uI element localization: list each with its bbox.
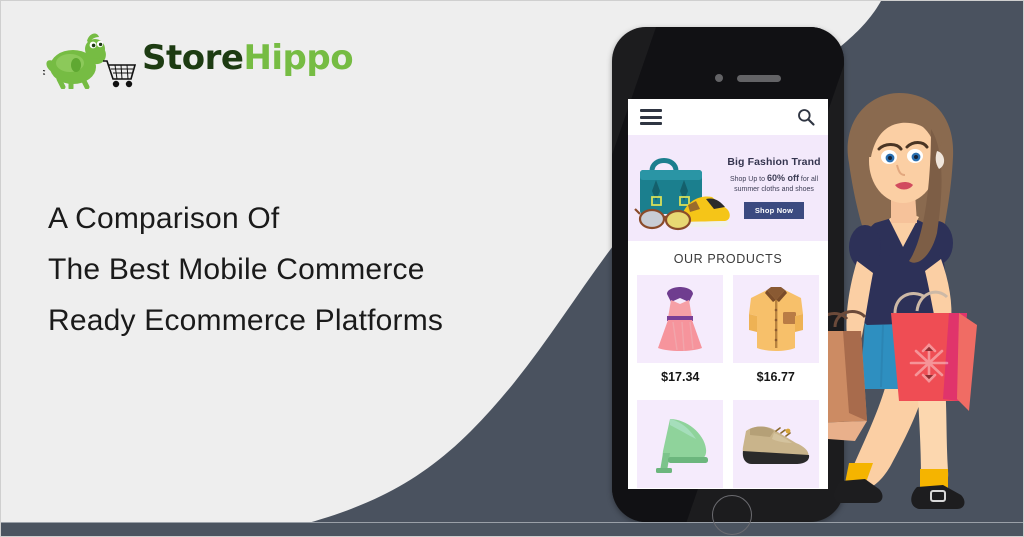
banner-title: Big Fashion Trand xyxy=(727,156,821,168)
product-thumb xyxy=(733,275,819,363)
banner-sub-post: for all xyxy=(799,176,818,183)
hippo-with-shopping-cart-icon xyxy=(43,27,138,89)
product-card-dress[interactable]: $17.34 xyxy=(636,275,725,393)
product-price: $17.34 xyxy=(661,363,699,393)
headline-line-3: Ready Ecommerce Platforms xyxy=(48,295,443,346)
yellow-shirt-icon xyxy=(743,284,809,354)
app-topbar xyxy=(628,99,828,135)
banner-discount: 60% off xyxy=(767,173,799,183)
headline-line-2: The Best Mobile Commerce xyxy=(48,244,443,295)
product-thumb xyxy=(637,400,723,488)
phone-screen: Big Fashion Trand Shop Up to 60% off for… xyxy=(628,99,828,489)
banner-sub-line2: summer cloths and shoes xyxy=(734,186,814,193)
hero-banner[interactable]: Big Fashion Trand Shop Up to 60% off for… xyxy=(628,135,828,241)
banner-subtitle: Shop Up to 60% off for all summer cloths… xyxy=(727,173,821,195)
logo-word-hippo: Hippo xyxy=(243,38,353,78)
floor-strip xyxy=(1,522,1024,536)
product-price: $16.77 xyxy=(757,363,795,393)
pink-dress-icon xyxy=(649,284,711,354)
banner-sub-pre: Shop Up to xyxy=(730,176,767,183)
product-card-shirt[interactable]: $16.77 xyxy=(732,275,821,393)
banner-copy: Big Fashion Trand Shop Up to 60% off for… xyxy=(727,156,821,219)
front-camera-icon xyxy=(715,74,723,82)
logo-wordmark: StoreHippo xyxy=(142,41,353,75)
smartphone-mockup: Big Fashion Trand Shop Up to 60% off for… xyxy=(612,27,844,522)
earpiece-speaker-icon xyxy=(737,75,781,82)
page-title: A Comparison Of The Best Mobile Commerce… xyxy=(48,193,443,346)
product-grid: $17.34 xyxy=(628,275,828,489)
home-button-icon[interactable] xyxy=(712,495,752,535)
products-heading: OUR PRODUCTS xyxy=(628,241,828,275)
product-thumb xyxy=(637,275,723,363)
logo-word-store: Store xyxy=(142,38,243,78)
hamburger-menu-icon[interactable] xyxy=(640,109,662,125)
banner-artwork xyxy=(630,143,734,235)
product-thumb xyxy=(733,400,819,488)
headline-line-1: A Comparison Of xyxy=(48,193,443,244)
storehippo-logo[interactable]: StoreHippo xyxy=(43,27,353,89)
promotional-banner-canvas: StoreHippo A Comparison Of The Best Mobi… xyxy=(0,0,1024,537)
product-card-shoe[interactable] xyxy=(732,400,821,489)
shop-now-button[interactable]: Shop Now xyxy=(744,202,804,219)
product-card-heel[interactable] xyxy=(636,400,725,489)
green-heel-icon xyxy=(646,413,714,475)
brown-shoe-icon xyxy=(740,417,812,471)
search-icon[interactable] xyxy=(796,107,816,127)
